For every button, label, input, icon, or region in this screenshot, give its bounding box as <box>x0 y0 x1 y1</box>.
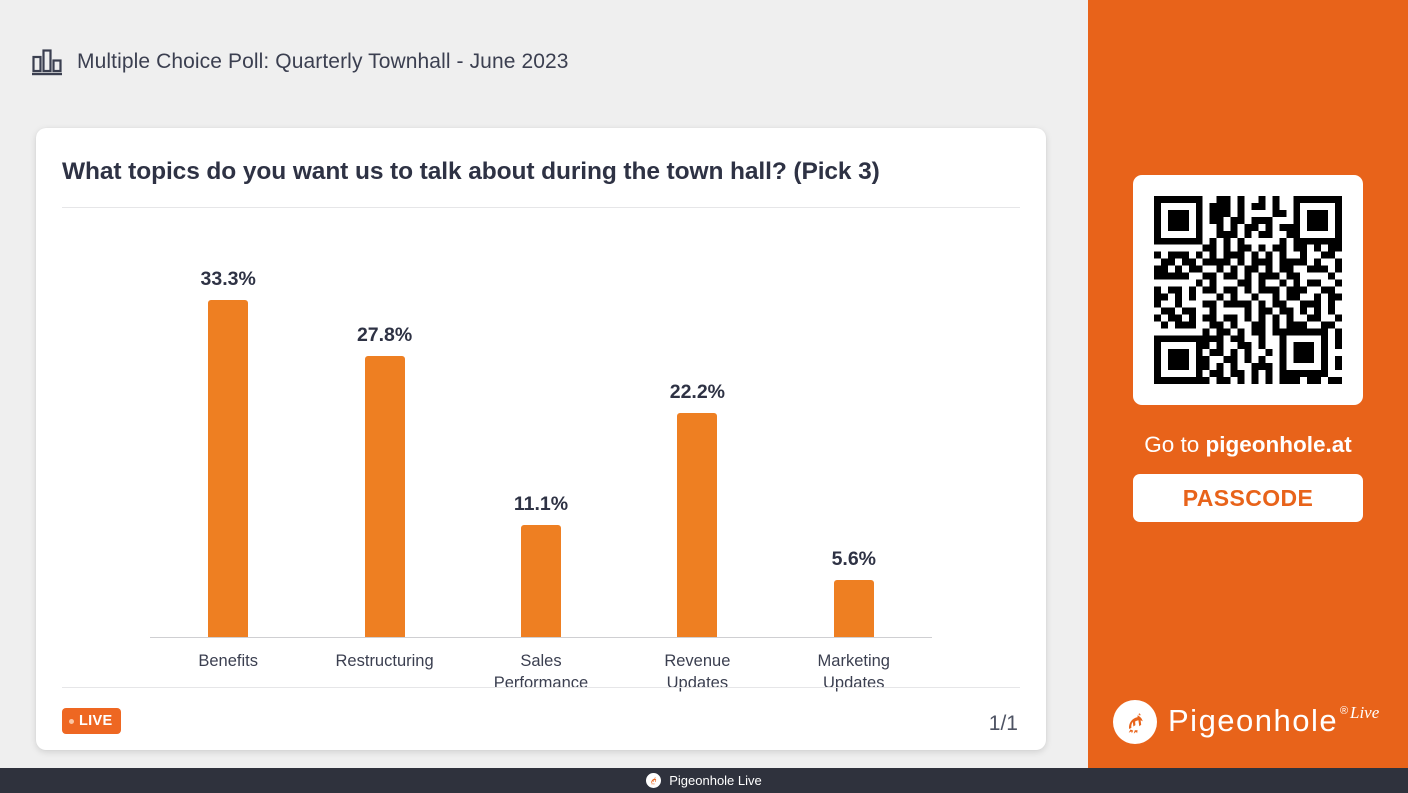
chart-bar-group: 11.1% <box>463 227 619 637</box>
chart-bar <box>365 356 405 637</box>
join-sidebar: Go to pigeonhole.at PASSCODE Pigeonhole … <box>1088 0 1408 768</box>
bar-value-label: 33.3% <box>201 268 256 291</box>
svg-text:Pigeonhole: Pigeonhole <box>1168 703 1338 738</box>
bar-value-label: 11.1% <box>514 493 568 516</box>
divider-bottom <box>62 687 1020 688</box>
divider-top <box>62 207 1020 208</box>
qr-code-icon <box>1147 189 1349 391</box>
chart-bar-group: 5.6% <box>776 227 932 637</box>
pigeonhole-live-logo: Pigeonhole ® Live <box>1088 700 1408 744</box>
brand-wordmark: Pigeonhole ® Live <box>1168 700 1383 744</box>
qr-code-card <box>1133 175 1363 405</box>
page-indicator: 1/1 <box>989 712 1018 736</box>
chart-bar <box>834 580 874 637</box>
chart-bar-group: 22.2% <box>619 227 775 637</box>
chart-bar <box>521 525 561 637</box>
goto-prefix: Go to <box>1144 432 1205 457</box>
bar-value-label: 22.2% <box>670 381 725 404</box>
page-title: Multiple Choice Poll: Quarterly Townhall… <box>77 50 569 74</box>
chart-bar-group: 33.3% <box>150 227 306 637</box>
svg-text:Live: Live <box>1349 703 1380 722</box>
main-pane: Multiple Choice Poll: Quarterly Townhall… <box>0 0 1088 768</box>
taskbar: Pigeonhole Live <box>0 768 1408 793</box>
passcode-label: PASSCODE <box>1183 485 1314 512</box>
chart-plot-area: 33.3%27.8%11.1%22.2%5.6% <box>150 228 932 638</box>
live-label: LIVE <box>79 713 112 729</box>
taskbar-label: Pigeonhole Live <box>669 773 762 788</box>
goto-instruction: Go to pigeonhole.at <box>1144 432 1352 458</box>
status-badge-live: LIVE <box>62 708 121 734</box>
bar-chart-icon <box>32 48 62 76</box>
app-header: Multiple Choice Poll: Quarterly Townhall… <box>32 48 569 76</box>
live-dot-icon <box>69 719 74 724</box>
poll-results-chart: 33.3%27.8%11.1%22.2%5.6% BenefitsRestruc… <box>150 228 932 696</box>
chart-bar <box>208 300 248 637</box>
chart-bar-group: 27.8% <box>306 227 462 637</box>
chart-axis-line <box>150 637 932 639</box>
chart-bar <box>677 413 717 637</box>
pigeonhole-favicon-icon <box>646 773 661 788</box>
poll-question: What topics do you want us to talk about… <box>62 158 1020 186</box>
bar-value-label: 5.6% <box>832 548 876 571</box>
bar-value-label: 27.8% <box>357 324 412 347</box>
svg-text:®: ® <box>1340 705 1348 717</box>
poll-card: What topics do you want us to talk about… <box>36 128 1046 750</box>
pigeon-icon <box>1113 700 1157 744</box>
passcode-button[interactable]: PASSCODE <box>1133 474 1363 522</box>
screen: Multiple Choice Poll: Quarterly Townhall… <box>0 0 1408 793</box>
goto-domain: pigeonhole.at <box>1206 432 1352 457</box>
